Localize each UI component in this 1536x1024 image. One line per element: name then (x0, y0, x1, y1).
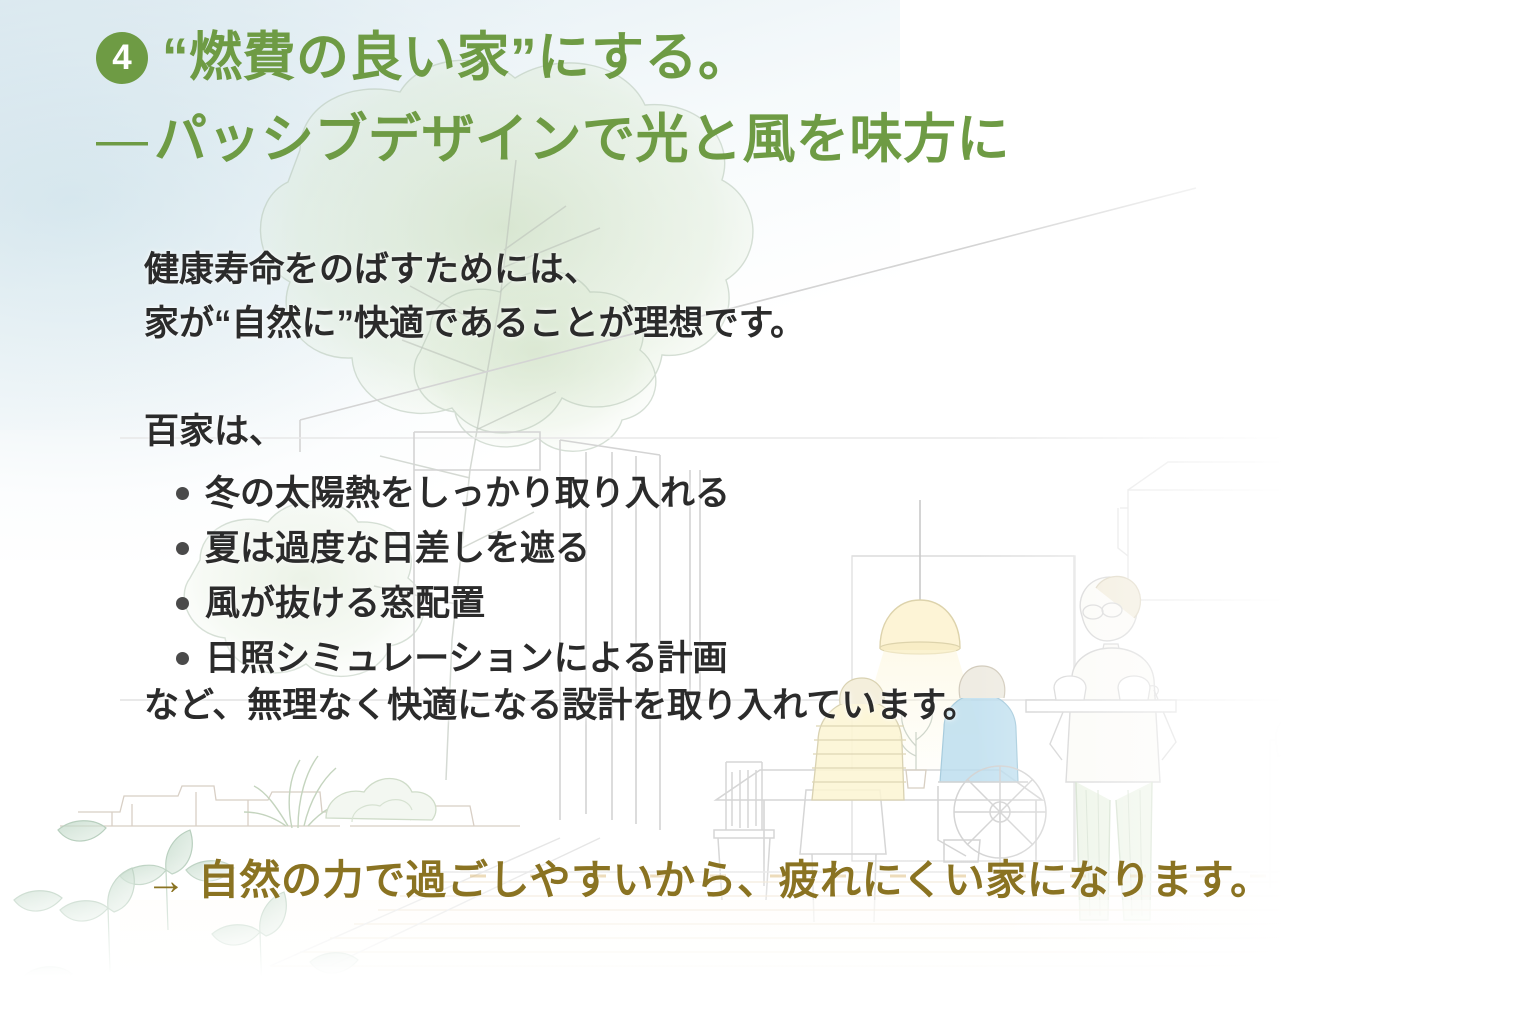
list-item: 日照シミュレーションによる計画 (176, 631, 730, 686)
bullet-dot-icon (176, 597, 189, 610)
list-item: 冬の太陽熱をしっかり取り入れる (176, 466, 730, 521)
list-item-label: 夏は過度な日差しを遮る (205, 531, 590, 566)
intro-paragraph-line-2: 家が“自然に”快適であることが理想です。 (144, 297, 805, 351)
list-item: 風が抜ける窓配置 (176, 576, 730, 631)
list-item-label: 風が抜ける窓配置 (205, 586, 485, 621)
list-intro-text: 百家は、 (144, 411, 284, 453)
closing-statement-text: 自然の力で過ごしやすいから、疲れにくい家になります。 (198, 857, 1272, 904)
bullet-dot-icon (176, 542, 189, 555)
step-number-badge: 4 (96, 32, 148, 84)
intro-paragraph: 健康寿命をのばすためには、 家が“自然に”快適であることが理想です。 (144, 243, 805, 352)
intro-paragraph-line-1: 健康寿命をのばすためには、 (144, 243, 805, 297)
page-subtitle: パッシブデザインで光と風を味方に (154, 112, 1010, 168)
em-dash-icon: — (96, 114, 146, 166)
outro-paragraph: など、無理なく快適になる設計を取り入れています。 (144, 685, 978, 727)
slide-content: 4 “燃費の良い家”にする。 — パッシブデザインで光と風を味方に 健康寿命をの… (0, 0, 1536, 1024)
bullet-dot-icon (176, 652, 189, 665)
slide-canvas: 4 “燃費の良い家”にする。 — パッシブデザインで光と風を味方に 健康寿命をの… (0, 0, 1536, 1024)
page-title: “燃費の良い家”にする。 (162, 30, 752, 86)
list-item-label: 日照シミュレーションによる計画 (205, 641, 728, 676)
arrow-right-icon: → (146, 861, 186, 901)
closing-statement: → 自然の力で過ごしやすいから、疲れにくい家になります。 (146, 857, 1272, 904)
bullet-dot-icon (176, 487, 189, 500)
feature-list: 冬の太陽熱をしっかり取り入れる 夏は過度な日差しを遮る 風が抜ける窓配置 日照シ… (176, 466, 730, 686)
heading-line-1: 4 “燃費の良い家”にする。 (96, 30, 752, 86)
heading-line-2: — パッシブデザインで光と風を味方に (96, 112, 1010, 168)
list-item: 夏は過度な日差しを遮る (176, 521, 730, 576)
list-item-label: 冬の太陽熱をしっかり取り入れる (205, 476, 730, 511)
